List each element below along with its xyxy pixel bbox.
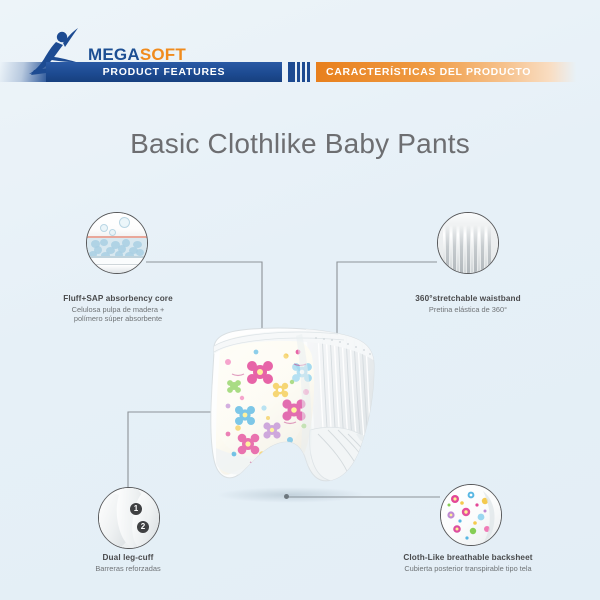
banner-tick-marks bbox=[288, 62, 314, 82]
caption-subtitle-es: Pretina elástica de 360° bbox=[386, 305, 550, 315]
caption-title-en: Cloth-Like breathable backsheet bbox=[368, 553, 568, 562]
leg-cuff-badge-2: 2 bbox=[137, 521, 149, 533]
feature-image-absorbency-core bbox=[86, 212, 148, 274]
liquid-droplet-icon bbox=[119, 217, 130, 228]
tick-mark bbox=[302, 62, 305, 82]
feature-image-backsheet bbox=[440, 484, 502, 546]
caption-waistband: 360°stretchable waistband Pretina elásti… bbox=[386, 294, 550, 314]
caption-subtitle-es: Barreras reforzadas bbox=[46, 564, 210, 574]
caption-subtitle-es: Celulosa pulpa de madera + polímero súpe… bbox=[36, 305, 200, 325]
product-features-banner: PRODUCT FEATURES bbox=[46, 62, 282, 82]
caption-backsheet: Cloth-Like breathable backsheet Cubierta… bbox=[368, 553, 568, 573]
caption-absorbency-core: Fluff+SAP absorbency core Celulosa pulpa… bbox=[36, 294, 200, 324]
core-sap-layer bbox=[87, 238, 147, 257]
caption-title-en: 360°stretchable waistband bbox=[386, 294, 550, 303]
header: MEGASOFT PRODUCT FEATURES CARACTERÍSTICA… bbox=[0, 0, 600, 100]
leg-cuff-badge-1: 1 bbox=[130, 503, 142, 515]
product-image bbox=[198, 322, 386, 500]
product-features-infographic: MEGASOFT PRODUCT FEATURES CARACTERÍSTICA… bbox=[0, 0, 600, 600]
blue-bar-tail bbox=[0, 62, 50, 82]
tick-mark bbox=[297, 62, 300, 82]
feature-image-waistband bbox=[437, 212, 499, 274]
tick-mark bbox=[307, 62, 310, 82]
feature-image-leg-cuff: 1 2 bbox=[98, 487, 160, 549]
core-backsheet-layer bbox=[87, 265, 147, 273]
liquid-droplet-icon bbox=[100, 224, 108, 232]
caracteristicas-label: CARACTERÍSTICAS DEL PRODUCTO bbox=[326, 62, 531, 82]
caption-subtitle-es: Cubierta posterior transpirable tipo tel… bbox=[368, 564, 568, 574]
page-title: Basic Clothlike Baby Pants bbox=[0, 128, 600, 160]
caracteristicas-banner: CARACTERÍSTICAS DEL PRODUCTO bbox=[316, 62, 576, 82]
liquid-droplet-icon bbox=[109, 229, 116, 236]
caption-title-en: Dual leg-cuff bbox=[46, 553, 210, 562]
product-features-label: PRODUCT FEATURES bbox=[46, 62, 282, 82]
core-topsheet-layer bbox=[87, 213, 147, 236]
caption-leg-cuff: Dual leg-cuff Barreras reforzadas bbox=[46, 553, 210, 573]
tick-mark bbox=[288, 62, 295, 82]
caption-title-en: Fluff+SAP absorbency core bbox=[36, 294, 200, 303]
